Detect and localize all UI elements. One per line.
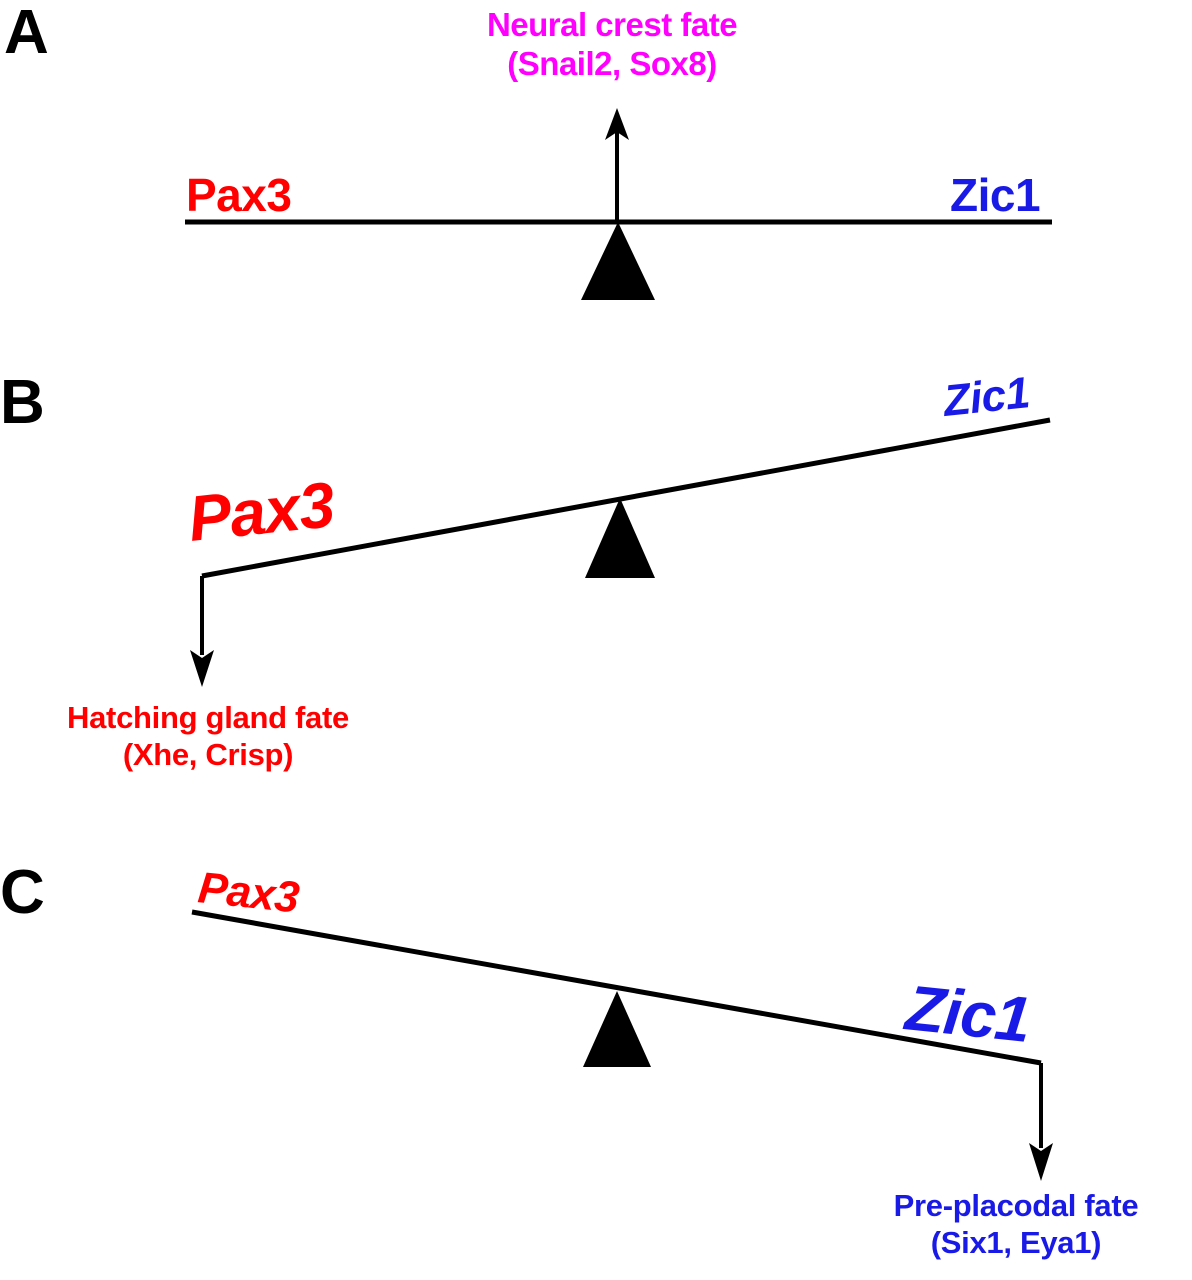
- panel-c-graphics: [192, 912, 1053, 1181]
- panel-b-fulcrum-triangle: [585, 498, 655, 578]
- panel-a-graphics: [185, 108, 1052, 300]
- panel-c-down-arrow-head: [1029, 1143, 1053, 1181]
- panel-c-zic1-label: Zic1: [903, 975, 1033, 1052]
- panel-b-fate-label: Hatching gland fate (Xhe, Crisp): [8, 700, 408, 773]
- panel-letter-a: A: [4, 2, 48, 64]
- panel-c-pax3-label: Pax3: [196, 866, 301, 920]
- panel-letter-c: C: [0, 862, 44, 924]
- panel-c-fate-line1: Pre-placodal fate: [894, 1188, 1139, 1223]
- panel-a-zic1-label: Zic1: [950, 172, 1040, 218]
- panel-a-fate-line1: Neural crest fate: [487, 6, 737, 43]
- panel-b-down-arrow-head: [190, 650, 214, 687]
- panel-b-graphics: [190, 420, 1050, 687]
- panel-a-fulcrum-triangle: [581, 222, 655, 300]
- panel-b-fate-line1: Hatching gland fate: [67, 700, 349, 735]
- panel-a-pax3-label: Pax3: [186, 172, 291, 218]
- panel-b-pax3-label: Pax3: [185, 472, 336, 551]
- panel-c-fulcrum-triangle: [583, 991, 651, 1067]
- panel-a-fate-label: Neural crest fate (Snail2, Sox8): [438, 6, 786, 84]
- panel-c-fate-label: Pre-placodal fate (Six1, Eya1): [846, 1188, 1186, 1261]
- panel-letter-b: B: [0, 372, 44, 434]
- figure-canvas: A Neural crest fate (Snail2, Sox8) Pax3 …: [0, 0, 1192, 1280]
- panel-a-fate-line2: (Snail2, Sox8): [438, 45, 786, 84]
- panel-b-zic1-label: Zic1: [941, 371, 1031, 424]
- panel-c-fate-line2: (Six1, Eya1): [846, 1225, 1186, 1262]
- panel-b-fate-line2: (Xhe, Crisp): [8, 737, 408, 774]
